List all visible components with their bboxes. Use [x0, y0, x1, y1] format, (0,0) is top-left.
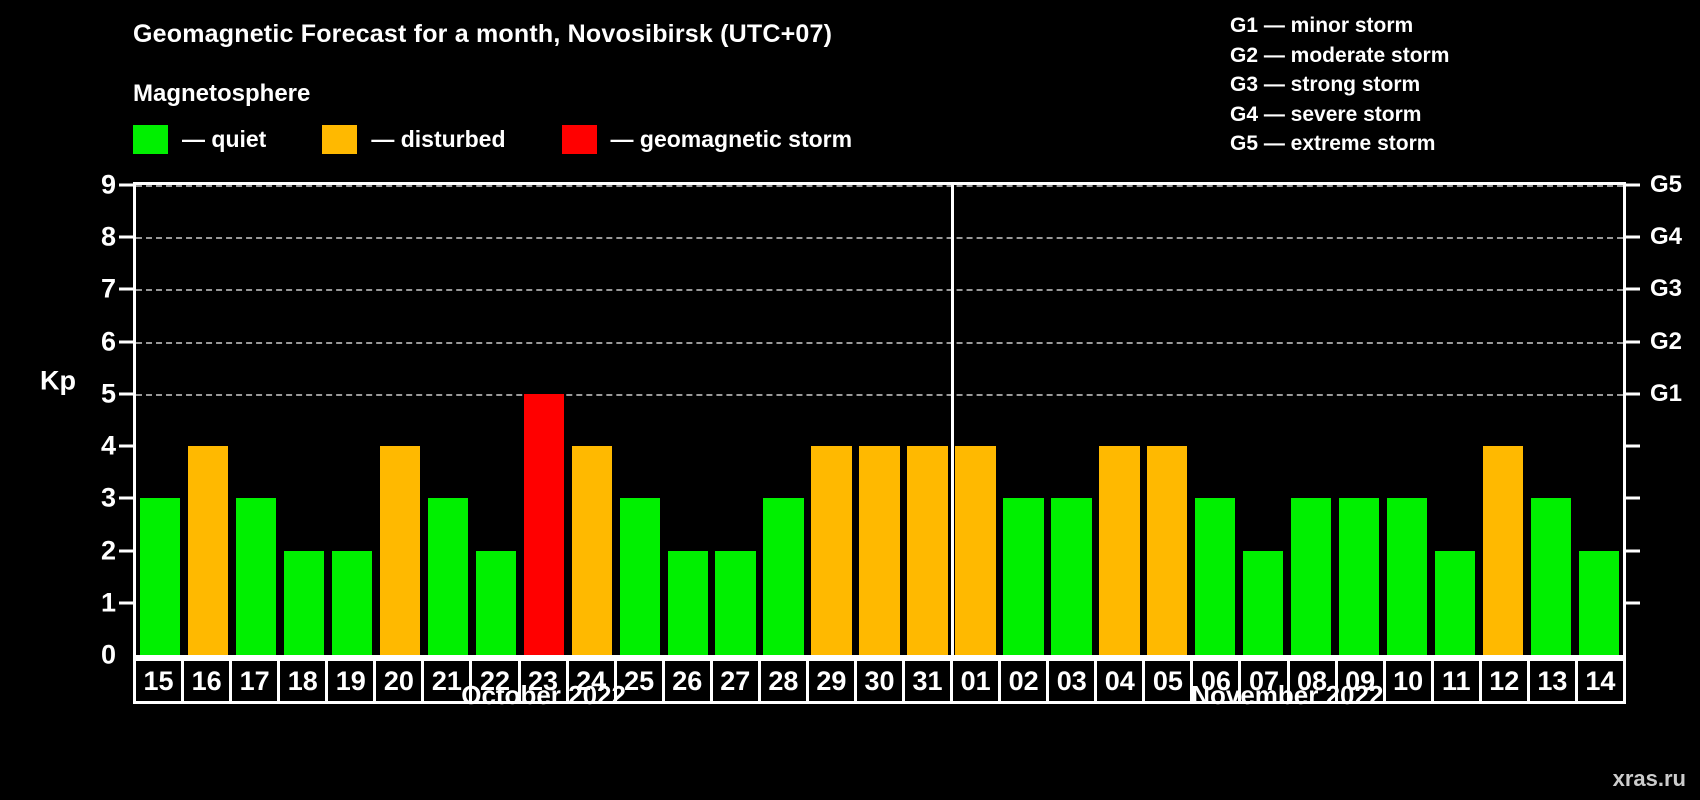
- g-scale-line-1: G1 — minor storm: [1230, 11, 1449, 41]
- bar-slot-27[interactable]: [712, 185, 760, 655]
- bar-october-21[interactable]: [428, 498, 468, 655]
- day-label-october-29[interactable]: 29: [806, 658, 857, 704]
- bar-october-31[interactable]: [907, 446, 947, 655]
- bar-slot-30[interactable]: [856, 185, 904, 655]
- bar-october-19[interactable]: [332, 551, 372, 655]
- bar-november-14[interactable]: [1579, 551, 1619, 655]
- bar-slot-23[interactable]: [520, 185, 568, 655]
- bar-slot-21[interactable]: [424, 185, 472, 655]
- bar-november-05[interactable]: [1147, 446, 1187, 655]
- bar-october-25[interactable]: [620, 498, 660, 655]
- magnetosphere-heading: Magnetosphere: [133, 80, 310, 108]
- bar-slot-07[interactable]: [1239, 185, 1287, 655]
- bar-slot-19[interactable]: [328, 185, 376, 655]
- day-label-october-27[interactable]: 27: [710, 658, 761, 704]
- day-label-october-31[interactable]: 31: [902, 658, 953, 704]
- y-axis-title: Kp: [40, 366, 76, 397]
- y-tick-mark-8: [119, 236, 133, 239]
- bar-november-12[interactable]: [1483, 446, 1523, 655]
- g-scale-legend: G1 — minor stormG2 — moderate stormG3 — …: [1230, 11, 1449, 159]
- bar-slot-08[interactable]: [1287, 185, 1335, 655]
- bar-october-29[interactable]: [811, 446, 851, 655]
- watermark: xras.ru: [1613, 766, 1686, 792]
- right-axis-label-G1: G1: [1650, 380, 1682, 408]
- bar-slot-26[interactable]: [664, 185, 712, 655]
- legend-swatch-storm: [562, 125, 597, 154]
- bar-october-18[interactable]: [284, 551, 324, 655]
- chart-plot-area: [133, 182, 1626, 658]
- y-tick-mark-4: [119, 445, 133, 448]
- day-label-october-30[interactable]: 30: [854, 658, 905, 704]
- day-label-october-20[interactable]: 20: [373, 658, 424, 704]
- y-tick-label-9: 9: [101, 170, 116, 201]
- legend-label-storm: — geomagnetic storm: [611, 126, 853, 153]
- y-tick-mark-7: [119, 288, 133, 291]
- bar-slot-11[interactable]: [1431, 185, 1479, 655]
- y-tick-label-7: 7: [101, 274, 116, 305]
- month-divider: [951, 185, 954, 655]
- legend: — quiet— disturbed— geomagnetic storm: [133, 124, 908, 154]
- right-axis-label-G3: G3: [1650, 275, 1682, 303]
- day-label-october-28[interactable]: 28: [758, 658, 809, 704]
- day-label-october-26[interactable]: 26: [662, 658, 713, 704]
- bar-slot-06[interactable]: [1191, 185, 1239, 655]
- legend-swatch-disturbed: [322, 125, 357, 154]
- g-scale-line-3: G3 — strong storm: [1230, 70, 1449, 100]
- y-tick-mark-2: [119, 549, 133, 552]
- y-tick-label-1: 1: [101, 587, 116, 618]
- day-label-november-04[interactable]: 04: [1094, 658, 1145, 704]
- day-label-november-10[interactable]: 10: [1383, 658, 1434, 704]
- bar-october-28[interactable]: [763, 498, 803, 655]
- bar-slot-18[interactable]: [280, 185, 328, 655]
- bar-october-17[interactable]: [236, 498, 276, 655]
- day-label-october-19[interactable]: 19: [325, 658, 376, 704]
- right-axis-label-G4: G4: [1650, 223, 1682, 251]
- bar-slot-24[interactable]: [568, 185, 616, 655]
- y-tick-mark-1: [119, 601, 133, 604]
- bar-slot-09[interactable]: [1335, 185, 1383, 655]
- day-label-november-13[interactable]: 13: [1527, 658, 1578, 704]
- bar-slot-29[interactable]: [808, 185, 856, 655]
- bar-november-02[interactable]: [1003, 498, 1043, 655]
- bar-slot-05[interactable]: [1143, 185, 1191, 655]
- day-label-october-16[interactable]: 16: [181, 658, 232, 704]
- bar-series: [136, 185, 1623, 655]
- bar-slot-25[interactable]: [616, 185, 664, 655]
- bar-november-03[interactable]: [1051, 498, 1091, 655]
- bar-october-27[interactable]: [715, 551, 755, 655]
- bar-november-04[interactable]: [1099, 446, 1139, 655]
- bar-november-10[interactable]: [1387, 498, 1427, 655]
- bar-october-20[interactable]: [380, 446, 420, 655]
- bar-november-07[interactable]: [1243, 551, 1283, 655]
- bar-october-26[interactable]: [668, 551, 708, 655]
- day-label-november-03[interactable]: 03: [1046, 658, 1097, 704]
- bar-october-24[interactable]: [572, 446, 612, 655]
- right-tick-mark-kp-7: [1626, 288, 1640, 291]
- y-tick-label-8: 8: [101, 222, 116, 253]
- legend-swatch-quiet: [133, 125, 168, 154]
- bar-slot-04[interactable]: [1095, 185, 1143, 655]
- y-tick-label-2: 2: [101, 535, 116, 566]
- bar-slot-20[interactable]: [376, 185, 424, 655]
- page-title: Geomagnetic Forecast for a month, Novosi…: [133, 20, 832, 49]
- legend-item-quiet: — quiet: [133, 125, 266, 154]
- bar-november-01[interactable]: [955, 446, 995, 655]
- bar-november-11[interactable]: [1435, 551, 1475, 655]
- right-axis-label-G5: G5: [1650, 171, 1682, 199]
- day-label-november-14[interactable]: 14: [1575, 658, 1626, 704]
- right-tick-mark-kp-8: [1626, 236, 1640, 239]
- bar-november-13[interactable]: [1531, 498, 1571, 655]
- right-axis-label-G2: G2: [1650, 328, 1682, 356]
- y-tick-label-6: 6: [101, 326, 116, 357]
- day-label-november-12[interactable]: 12: [1479, 658, 1530, 704]
- y-tick-label-3: 3: [101, 483, 116, 514]
- month-caption-0: October 2022: [461, 680, 626, 711]
- y-tick-mark-9: [119, 184, 133, 187]
- day-label-strip: 1516171819202122232425262728293031010203…: [133, 658, 1626, 704]
- bar-slot-12[interactable]: [1479, 185, 1527, 655]
- chart-inner: [136, 185, 1623, 655]
- right-tick-mark-kp-2: [1626, 549, 1640, 552]
- bar-slot-03[interactable]: [1047, 185, 1095, 655]
- day-label-november-05[interactable]: 05: [1142, 658, 1193, 704]
- y-tick-label-4: 4: [101, 431, 116, 462]
- bar-october-16[interactable]: [188, 446, 228, 655]
- g-scale-line-2: G2 — moderate storm: [1230, 41, 1449, 71]
- legend-item-disturbed: — disturbed: [322, 125, 505, 154]
- right-tick-mark-kp-1: [1626, 601, 1640, 604]
- y-tick-mark-6: [119, 340, 133, 343]
- bar-slot-16[interactable]: [184, 185, 232, 655]
- bar-november-09[interactable]: [1339, 498, 1379, 655]
- day-label-november-02[interactable]: 02: [998, 658, 1049, 704]
- y-tick-label-5: 5: [101, 378, 116, 409]
- day-label-october-17[interactable]: 17: [229, 658, 280, 704]
- g-scale-line-4: G4 — severe storm: [1230, 100, 1449, 130]
- g-scale-line-5: G5 — extreme storm: [1230, 129, 1449, 159]
- bar-october-23[interactable]: [524, 394, 564, 655]
- legend-label-disturbed: — disturbed: [371, 126, 505, 153]
- bar-slot-15[interactable]: [136, 185, 184, 655]
- bar-november-08[interactable]: [1291, 498, 1331, 655]
- month-caption-1: November 2022: [1191, 680, 1383, 711]
- bar-slot-17[interactable]: [232, 185, 280, 655]
- bar-october-15[interactable]: [140, 498, 180, 655]
- bar-slot-02[interactable]: [999, 185, 1047, 655]
- bar-october-30[interactable]: [859, 446, 899, 655]
- bar-slot-13[interactable]: [1527, 185, 1575, 655]
- y-tick-label-0: 0: [101, 640, 116, 671]
- day-label-november-11[interactable]: 11: [1431, 658, 1482, 704]
- right-tick-mark-kp-5: [1626, 392, 1640, 395]
- bar-october-22[interactable]: [476, 551, 516, 655]
- bar-slot-01[interactable]: [951, 185, 999, 655]
- right-tick-mark-kp-9: [1626, 184, 1640, 187]
- right-tick-mark-kp-3: [1626, 497, 1640, 500]
- y-tick-mark-3: [119, 497, 133, 500]
- day-label-october-18[interactable]: 18: [277, 658, 328, 704]
- legend-label-quiet: — quiet: [182, 126, 266, 153]
- bar-slot-28[interactable]: [760, 185, 808, 655]
- bar-slot-31[interactable]: [904, 185, 952, 655]
- right-tick-mark-kp-6: [1626, 340, 1640, 343]
- day-label-october-15[interactable]: 15: [133, 658, 184, 704]
- legend-item-storm: — geomagnetic storm: [562, 125, 853, 154]
- right-tick-mark-kp-4: [1626, 445, 1640, 448]
- y-tick-mark-5: [119, 392, 133, 395]
- bar-november-06[interactable]: [1195, 498, 1235, 655]
- day-label-november-01[interactable]: 01: [950, 658, 1001, 704]
- bar-slot-10[interactable]: [1383, 185, 1431, 655]
- bar-slot-14[interactable]: [1575, 185, 1623, 655]
- bar-slot-22[interactable]: [472, 185, 520, 655]
